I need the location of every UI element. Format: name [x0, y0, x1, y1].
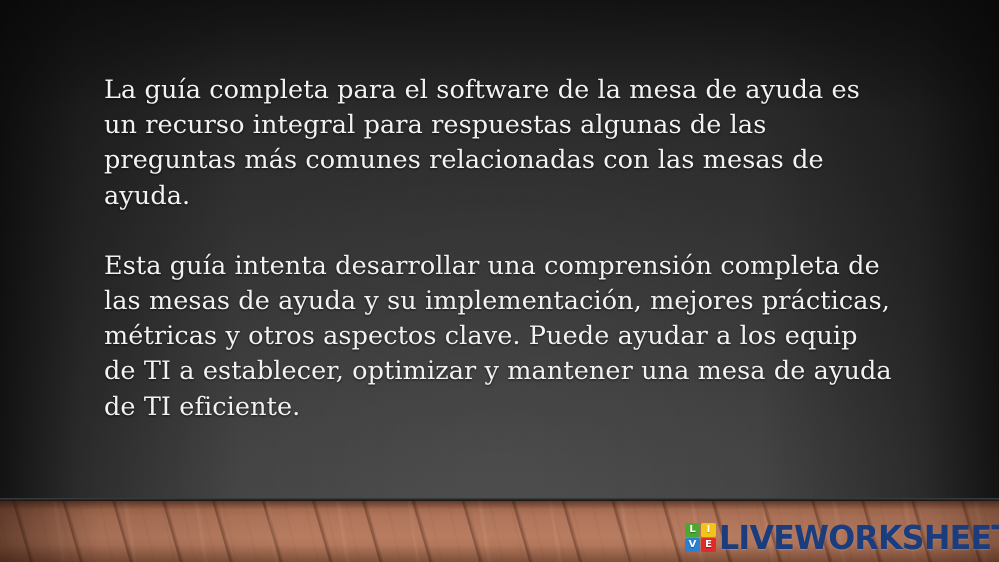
logo-letter-blocks: L I V E	[685, 523, 716, 552]
detail-paragraph: Esta guía intenta desarrollar una compre…	[104, 249, 894, 425]
slide-text-block: La guía completa para el software de la …	[104, 73, 894, 425]
logo-wordmark: LIVEWORKSHEETS	[719, 521, 999, 554]
presentation-slide: La guía completa para el software de la …	[0, 0, 999, 562]
logo-block-l: L	[685, 523, 700, 537]
logo-block-v: V	[685, 538, 700, 552]
liveworksheets-logo[interactable]: L I V E LIVEWORKSHEETS	[685, 518, 999, 556]
intro-paragraph: La guía completa para el software de la …	[104, 73, 894, 214]
logo-block-i: I	[701, 523, 716, 537]
logo-block-e: E	[701, 538, 716, 552]
